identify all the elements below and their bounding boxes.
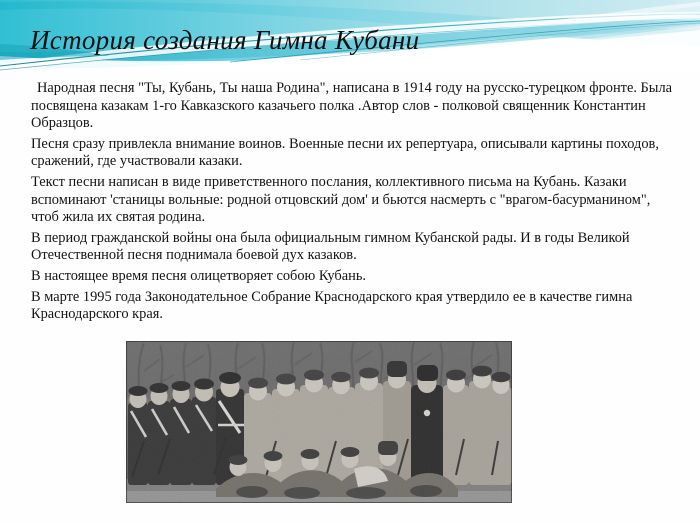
paragraph-4: В период гражданской войны она была офиц…: [31, 230, 677, 265]
cossack-group-photo: [126, 341, 512, 503]
paragraph-3: Текст песни написан в виде приветственно…: [31, 174, 677, 227]
slide-title: История создания Гимна Кубани: [30, 26, 419, 56]
paragraph-1: Народная песня "Ты, Кубань, Ты наша Роди…: [31, 80, 677, 133]
photo-content: [126, 341, 512, 503]
paragraph-2: Песня сразу привлекла внимание воинов. В…: [31, 136, 677, 171]
paragraph-6: В марте 1995 года Законодательное Собран…: [31, 289, 677, 324]
paragraph-5: В настоящее время песня олицетворяет соб…: [31, 268, 677, 286]
presentation-slide: История создания Гимна Кубани Народная п…: [0, 0, 700, 524]
slide-body-text: Народная песня "Ты, Кубань, Ты наша Роди…: [31, 80, 677, 327]
